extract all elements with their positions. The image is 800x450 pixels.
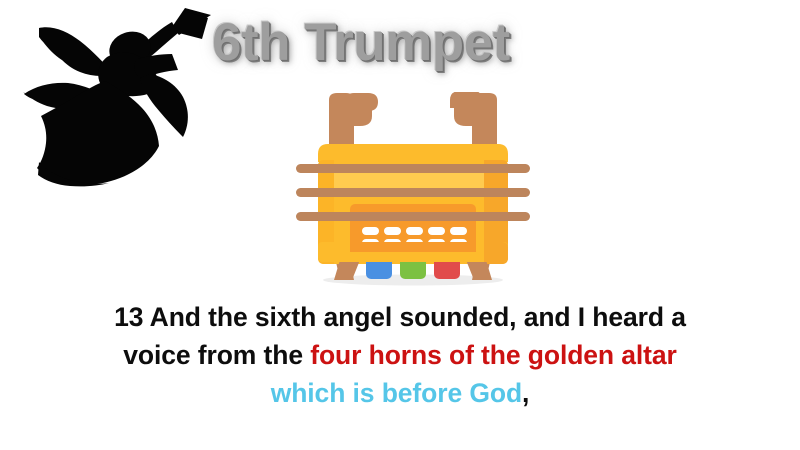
- verse-line-1: 13 And the sixth angel sounded, and I he…: [82, 298, 718, 336]
- golden-altar-of-incense-icon: [288, 92, 538, 288]
- verse-line-2-plain: voice from the: [123, 340, 310, 370]
- verse-line-3-highlight-cyan: which is before God: [271, 378, 522, 408]
- altar-carrying-bars: [296, 164, 530, 221]
- verse-line-3: which is before God,: [82, 374, 718, 412]
- page-title: 6th Trumpet: [212, 13, 592, 75]
- verse-text-block: 13 And the sixth angel sounded, and I he…: [82, 298, 718, 412]
- slide-canvas: 6th Trumpet: [0, 0, 800, 450]
- verse-line-2: voice from the four horns of the golden …: [82, 336, 718, 374]
- verse-line-3-comma: ,: [522, 378, 529, 408]
- verse-line-1-plain: 13 And the sixth angel sounded, and I he…: [114, 302, 686, 332]
- verse-line-2-highlight-red: four horns of the golden altar: [310, 340, 677, 370]
- altar-horns: [329, 92, 497, 152]
- angel-with-trumpet-silhouette: [6, 2, 216, 187]
